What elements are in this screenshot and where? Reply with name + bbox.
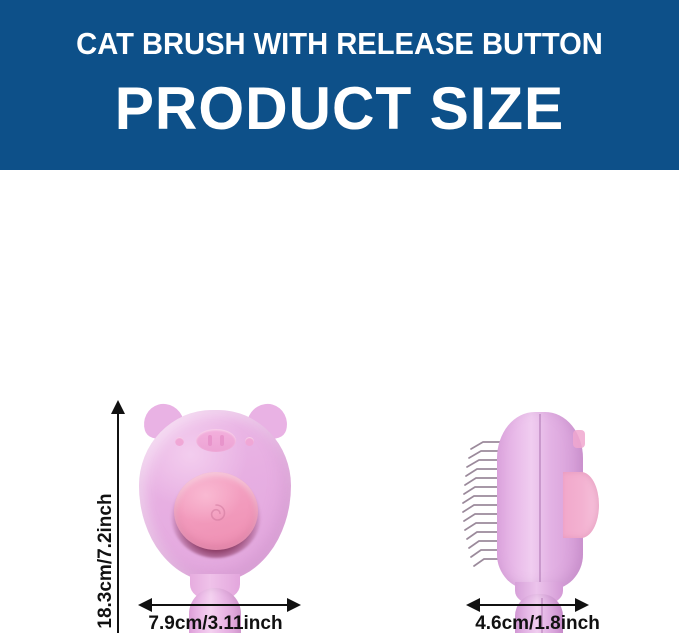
product-stage: 18.3cm/7.2inch	[0, 170, 679, 633]
pig-snout-icon	[196, 429, 236, 452]
side-width-arrow-right	[575, 598, 589, 612]
nostril-right	[220, 435, 224, 446]
banner-title: PRODUCT SIZE	[7, 78, 672, 140]
front-width-label: 7.9cm/3.11inch	[118, 613, 313, 633]
side-width-label: 4.6cm/1.8inch	[440, 613, 635, 633]
release-button-side	[563, 472, 599, 538]
pig-eye-left-icon	[175, 437, 184, 446]
banner-subtitle: CAT BRUSH WITH RELEASE BUTTON	[20, 26, 658, 62]
product-size-infographic: CAT BRUSH WITH RELEASE BUTTON PRODUCT SI…	[0, 0, 679, 633]
front-width-dimension-line	[150, 604, 289, 606]
height-dimension-label: 18.3cm/7.2inch	[95, 451, 117, 633]
pig-eye-right-icon	[245, 437, 254, 446]
release-button-front	[174, 472, 258, 550]
top-tab-icon	[573, 430, 585, 448]
nostril-left	[208, 435, 212, 446]
front-width-arrow-right	[287, 598, 301, 612]
height-dimension-line	[117, 407, 119, 633]
side-width-dimension-line	[478, 604, 577, 606]
header-banner: CAT BRUSH WITH RELEASE BUTTON PRODUCT SI…	[0, 0, 679, 170]
front-view	[133, 398, 298, 633]
spiral-icon	[203, 501, 229, 525]
